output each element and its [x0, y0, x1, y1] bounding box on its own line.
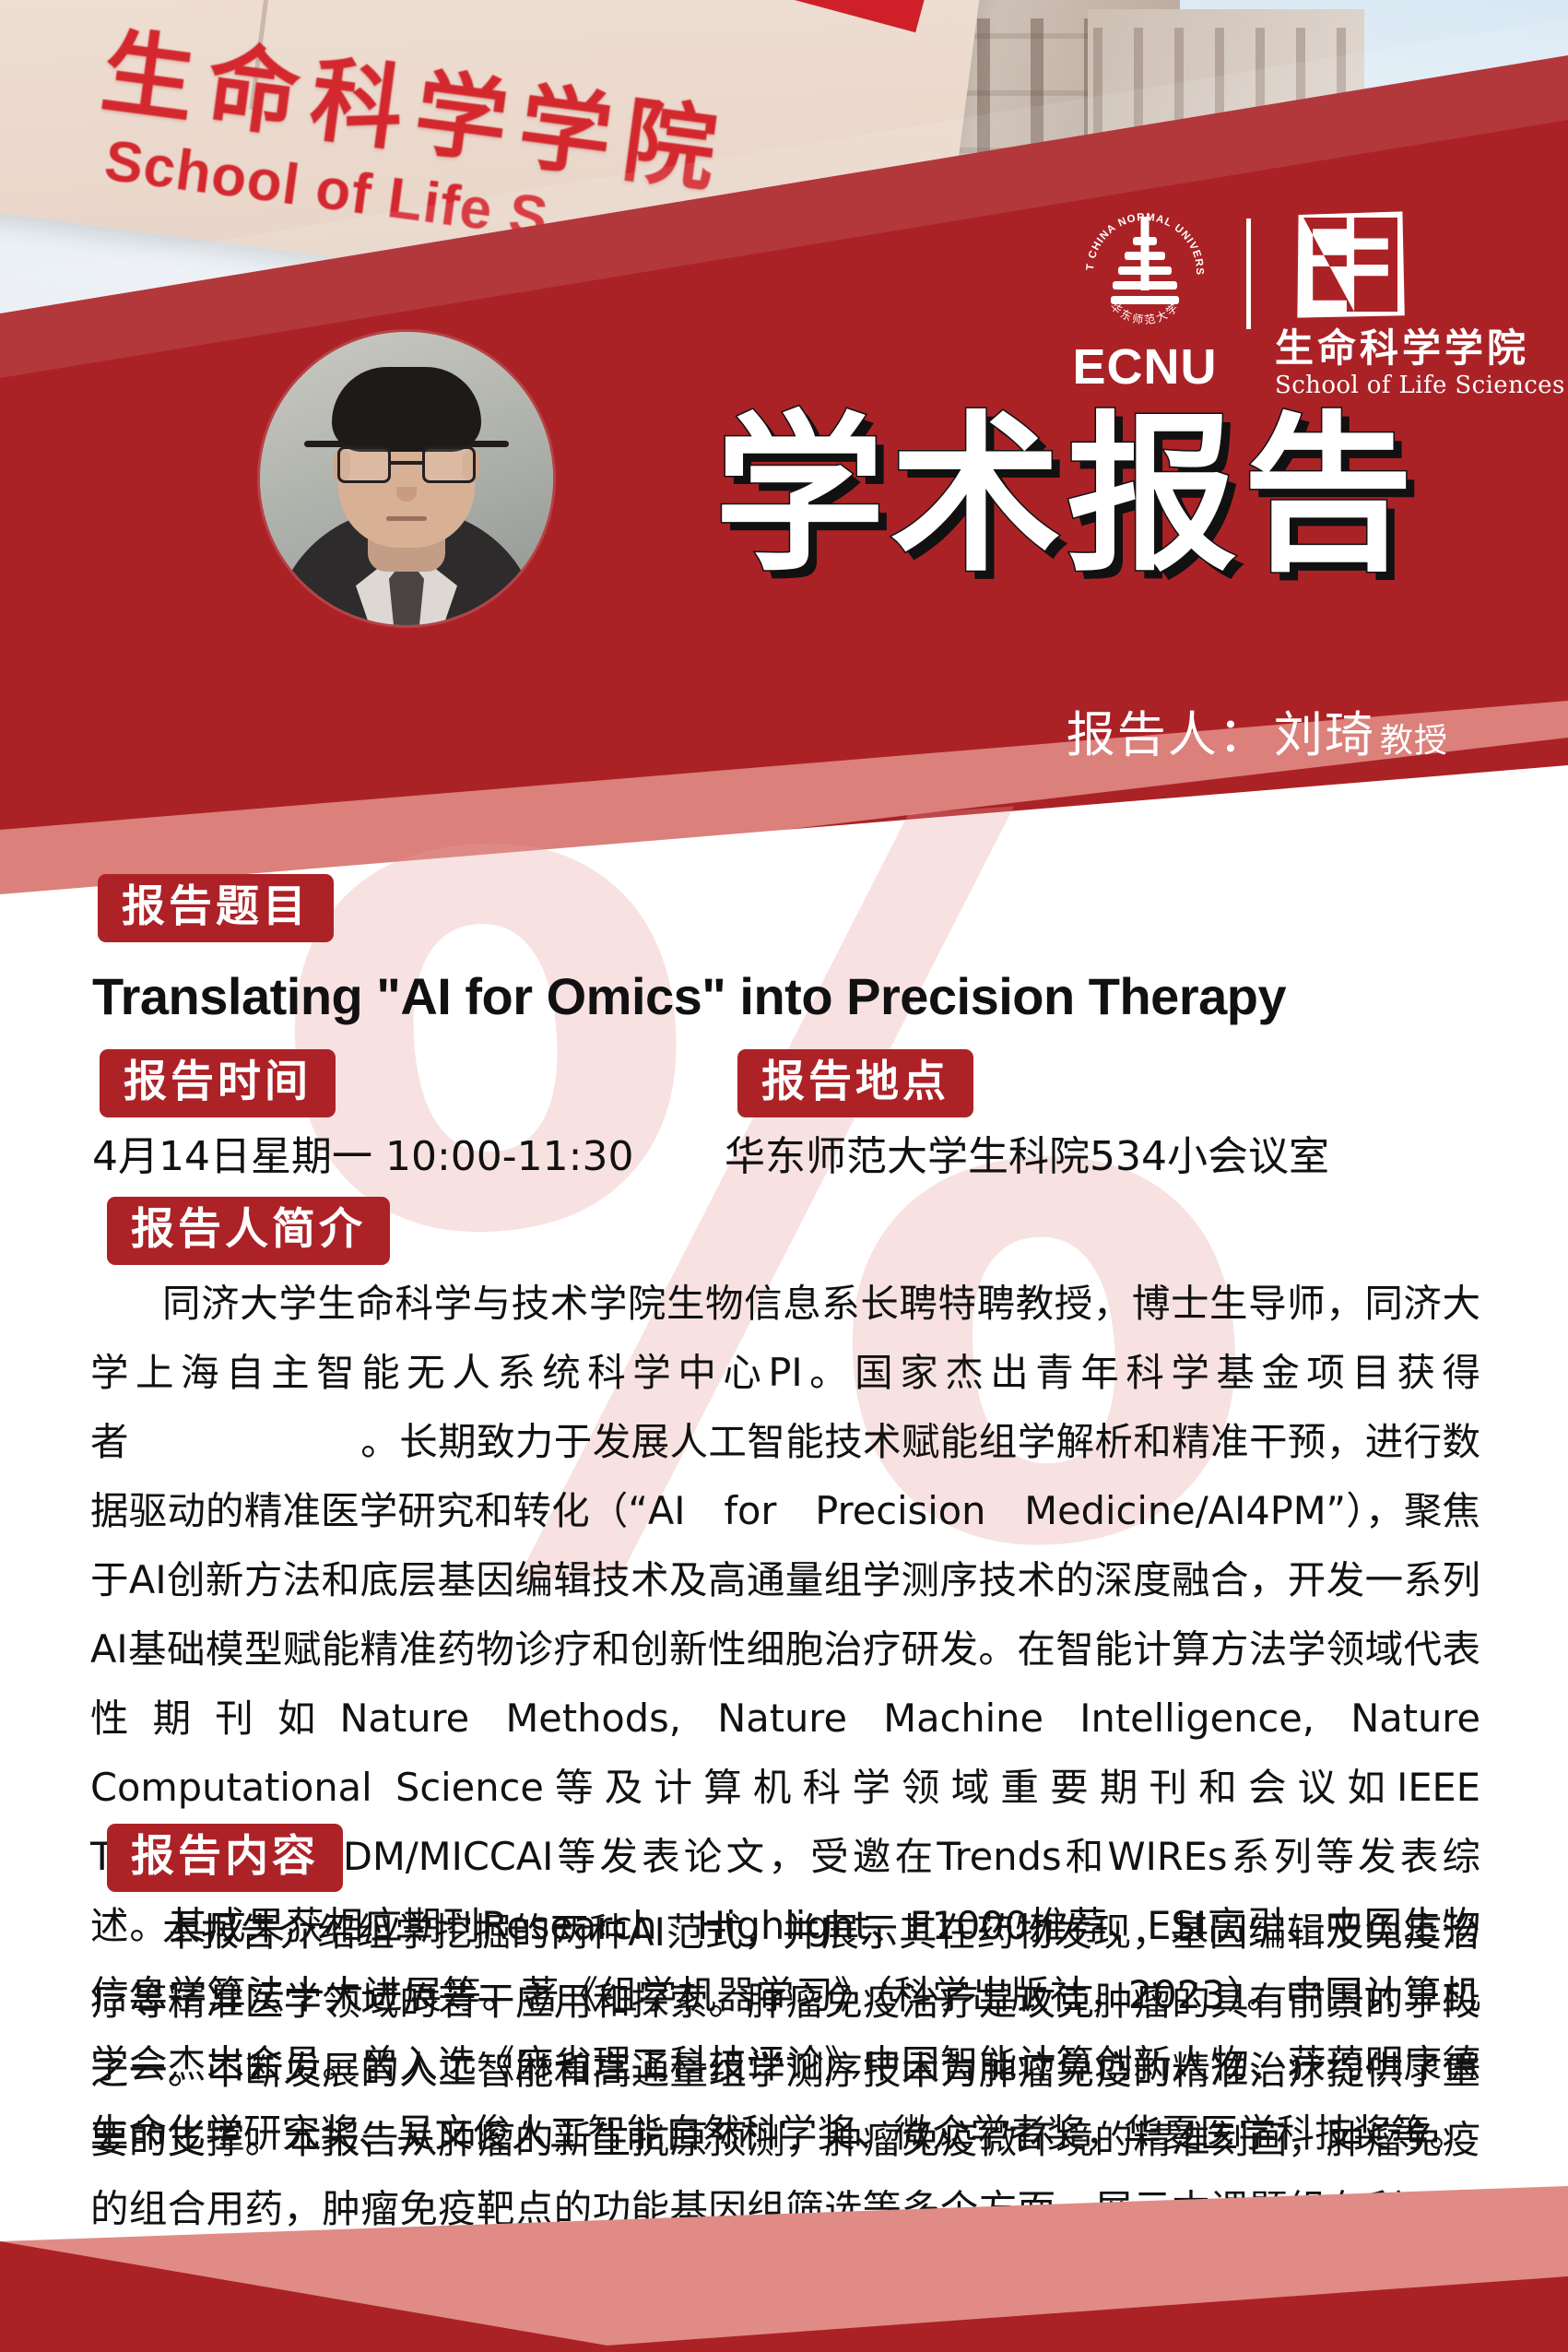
section-badge-biography: 报告人简介	[107, 1197, 390, 1265]
ecnu-abbreviation: ECNU	[1067, 342, 1222, 392]
school-name-chinese: 生命科学学院	[1275, 327, 1565, 370]
talk-title: Translating "AI for Omics" into Precisio…	[92, 966, 1286, 1026]
section-badge-time: 报告时间	[100, 1049, 336, 1117]
portrait-hair	[332, 367, 481, 452]
ecnu-seal-emblem: EAST CHINA NORMAL UNIVERSITY 华东师范大学	[1080, 207, 1209, 337]
school-of-life-sciences-logo: 生命科学学院 School of Life Sciences	[1275, 207, 1565, 399]
page-title: 学术报告	[714, 410, 1419, 581]
glasses-lens-right	[422, 446, 476, 483]
section-badge-topic: 报告题目	[98, 874, 334, 942]
ecnu-chinese-script-icon: 华东师范大学	[1080, 207, 1209, 337]
section-badge-abstract: 报告内容	[107, 1824, 343, 1892]
talk-place-value: 华东师范大学生科院534小会议室	[725, 1123, 1329, 1182]
portrait-glasses-icon	[337, 446, 476, 487]
svg-text:华东师范大学: 华东师范大学	[1108, 299, 1183, 326]
speaker-name: 刘琦	[1274, 707, 1375, 763]
glasses-lens-left	[337, 446, 391, 483]
host-rank: 研究员	[1346, 823, 1448, 861]
host-name: 李磊	[1240, 809, 1341, 865]
speaker-rank: 教授	[1380, 722, 1448, 760]
host-label: 主持人：	[1032, 809, 1235, 865]
seal-stamp-icon	[1295, 209, 1406, 320]
portrait-mouth	[386, 516, 427, 521]
section-badge-place: 报告地点	[737, 1049, 973, 1117]
institution-logo-lockup: EAST CHINA NORMAL UNIVERSITY 华东师范大学 ECNU	[1067, 207, 1565, 399]
talk-time-value: 4月14日星期一 10:00-11:30	[92, 1123, 633, 1182]
speaker-portrait-avatar	[260, 332, 553, 625]
glasses-bridge	[391, 461, 422, 465]
speaker-label: 报告人：	[1067, 707, 1269, 763]
ecnu-logo: EAST CHINA NORMAL UNIVERSITY 华东师范大学 ECNU	[1067, 207, 1222, 392]
academic-talk-poster: 生命科学学院 School of Life S	[0, 0, 1568, 2352]
speaker-line: 报告人： 刘琦 教授	[1067, 696, 1448, 766]
host-line: 主持人： 李磊 研究员	[1032, 798, 1448, 868]
logo-divider	[1246, 219, 1251, 329]
